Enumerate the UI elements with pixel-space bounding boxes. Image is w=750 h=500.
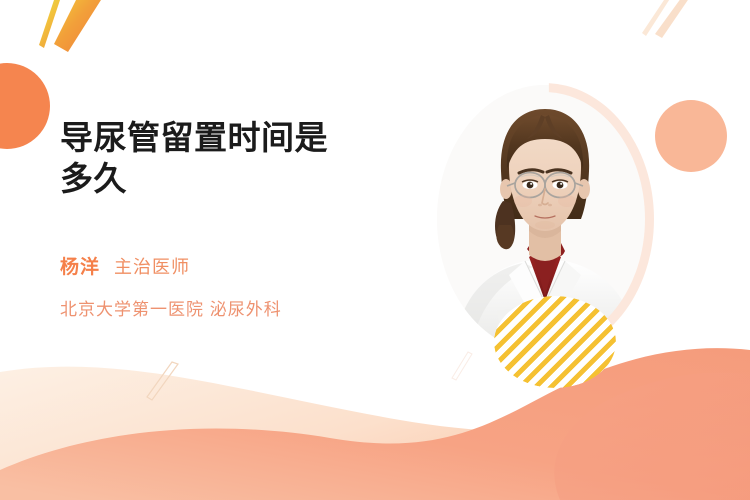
page-title: 导尿管留置时间是 多久: [60, 118, 420, 200]
diagonal-stripes-topleft: [39, 0, 106, 52]
doctor-name: 杨洋: [60, 252, 100, 279]
peach-circle-topright: [655, 100, 727, 172]
diagonal-stripe-midright: [452, 352, 472, 380]
gold-striped-circle: [494, 296, 616, 388]
doctor-rank: 主治医师: [114, 253, 190, 279]
diagonal-stripes-topright: [642, 0, 692, 38]
text-content: 导尿管留置时间是 多久 杨洋 主治医师 北京大学第一医院 泌尿外科: [60, 118, 420, 320]
doctor-intro-card: 导尿管留置时间是 多久 杨洋 主治医师 北京大学第一医院 泌尿外科: [0, 0, 750, 500]
doctor-byline: 杨洋 主治医师: [60, 252, 420, 279]
doctor-affiliation: 北京大学第一医院 泌尿外科: [60, 295, 420, 320]
